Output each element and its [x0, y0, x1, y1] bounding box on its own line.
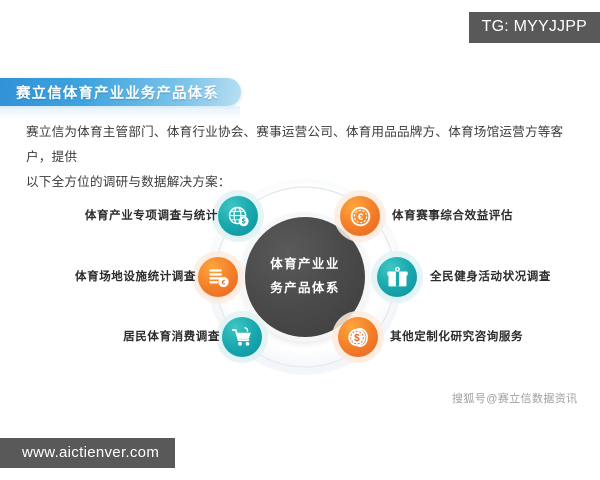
node-national-fitness-survey[interactable] — [377, 257, 417, 297]
node-label-venue-facility-survey: 体育场地设施统计调查 — [75, 268, 196, 284]
globe-dollar-icon: $ — [227, 205, 250, 228]
url-watermark: www.aictienver.com — [0, 438, 175, 468]
svg-text:€: € — [221, 279, 225, 286]
document-coin-icon: € — [207, 266, 230, 289]
node-venue-facility-survey[interactable]: € — [198, 257, 238, 297]
node-resident-consumption-survey[interactable] — [222, 317, 262, 357]
product-system-diagram: 体育产业业 务产品体系 $ 体育产业专项调查与统计 — [0, 176, 600, 381]
coin-euro-icon: € — [349, 205, 372, 228]
node-label-sports-industry-survey: 体育产业专项调查与统计 — [85, 207, 218, 223]
svg-text:€: € — [357, 211, 363, 222]
source-attribution: 搜狐号@赛立信数据资讯 — [452, 390, 578, 406]
intro-line-1: 赛立信为体育主管部门、体育行业协会、赛事运营公司、体育用品品牌方、体育场馆运营方… — [26, 120, 574, 170]
svg-text:$: $ — [354, 333, 360, 344]
hub-label-line-1: 体育产业业 — [270, 253, 340, 277]
node-label-resident-consumption-survey: 居民体育消费调查 — [123, 328, 220, 344]
node-sports-industry-survey[interactable]: $ — [218, 196, 258, 236]
title-underglow — [0, 106, 240, 120]
svg-text:$: $ — [241, 218, 245, 225]
coin-dollar-icon: $ — [347, 326, 370, 349]
hub-label-line-2: 务产品体系 — [270, 277, 340, 301]
tg-watermark-badge: TG: MYYJJPP — [469, 12, 600, 43]
node-label-event-benefit-evaluation: 体育赛事综合效益评估 — [392, 207, 513, 223]
section-title-pill: 赛立信体育产业业务产品体系 — [0, 78, 241, 106]
shopping-cart-icon — [231, 326, 254, 349]
node-label-national-fitness-survey: 全民健身活动状况调查 — [430, 268, 551, 284]
node-label-custom-research-service: 其他定制化研究咨询服务 — [390, 328, 523, 344]
node-custom-research-service[interactable]: $ — [338, 317, 378, 357]
page-title: 赛立信体育产业业务产品体系 — [16, 82, 219, 103]
gift-box-icon — [386, 266, 409, 289]
node-event-benefit-evaluation[interactable]: € — [340, 196, 380, 236]
